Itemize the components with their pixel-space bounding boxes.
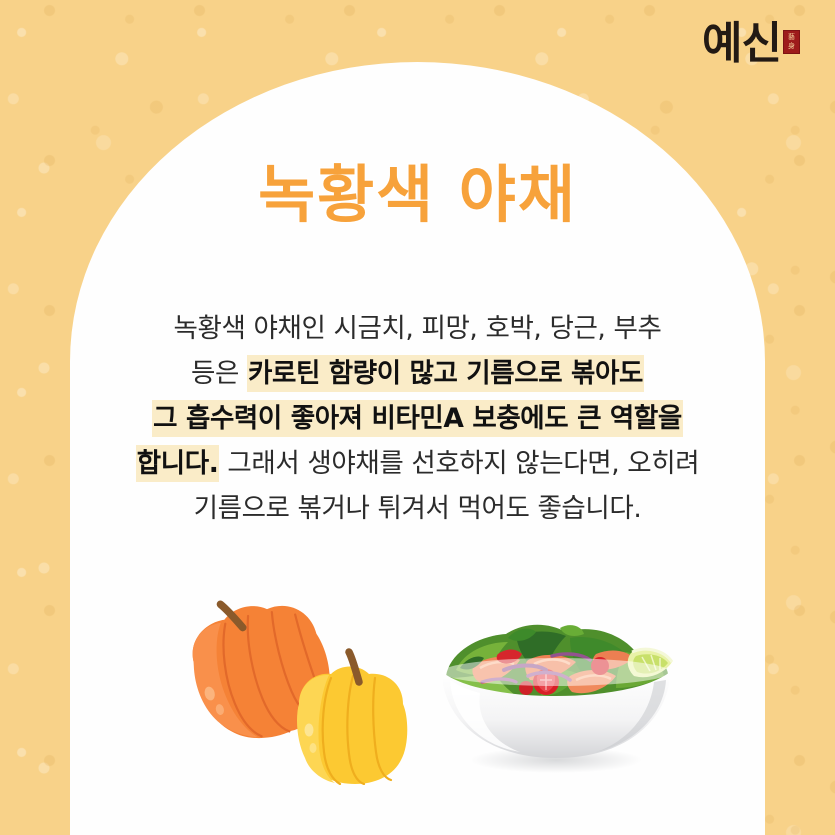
produce-illustration-row (0, 585, 835, 805)
page-title: 녹황색 야채 (0, 144, 835, 234)
body-copy: 녹황색 야채인 시금치, 피망, 호박, 당근, 부추등은 카로틴 함량이 많고… (60, 306, 775, 531)
highlighted-text: 카로틴 함량이 많고 기름으로 볶아도 (247, 355, 644, 392)
salad-bowl (442, 658, 670, 773)
salad-bowl-photo (420, 610, 692, 780)
seal-glyph-top: 藝 (788, 34, 795, 41)
brand-logo: 예신 藝 身 (702, 22, 800, 66)
body-text: 그래서 생야채를 선호하지 않는다면, 오히려 (219, 448, 699, 479)
body-line: 등은 카로틴 함량이 많고 기름으로 볶아도 (60, 351, 775, 396)
body-text: 녹황색 야채인 시금치, 피망, 호박, 당근, 부추 (174, 313, 662, 344)
infographic-card: 예신 藝 身 녹황색 야채 녹황색 야채인 시금치, 피망, 호박, 당근, 부… (0, 0, 835, 835)
brand-logo-text: 예신 (702, 22, 781, 66)
body-line: 그 흡수력이 좋아져 비타민A 보충에도 큰 역할을 (60, 396, 775, 441)
body-text: 기름으로 볶거나 튀겨서 먹어도 좋습니다. (194, 493, 642, 524)
body-line: 녹황색 야채인 시금치, 피망, 호박, 당근, 부추 (60, 306, 775, 351)
body-line: 합니다. 그래서 생야채를 선호하지 않는다면, 오히려 (60, 441, 775, 486)
highlighted-text: 그 흡수력이 좋아져 비타민A 보충에도 큰 역할을 (152, 400, 683, 437)
brand-seal-icon: 藝 身 (783, 30, 800, 54)
body-line: 기름으로 볶거나 튀겨서 먹어도 좋습니다. (60, 486, 775, 531)
seal-glyph-bottom: 身 (788, 43, 795, 50)
pumpkins-illustration (163, 600, 413, 785)
body-text: 등은 (191, 358, 247, 389)
highlighted-text: 합니다. (136, 445, 220, 482)
